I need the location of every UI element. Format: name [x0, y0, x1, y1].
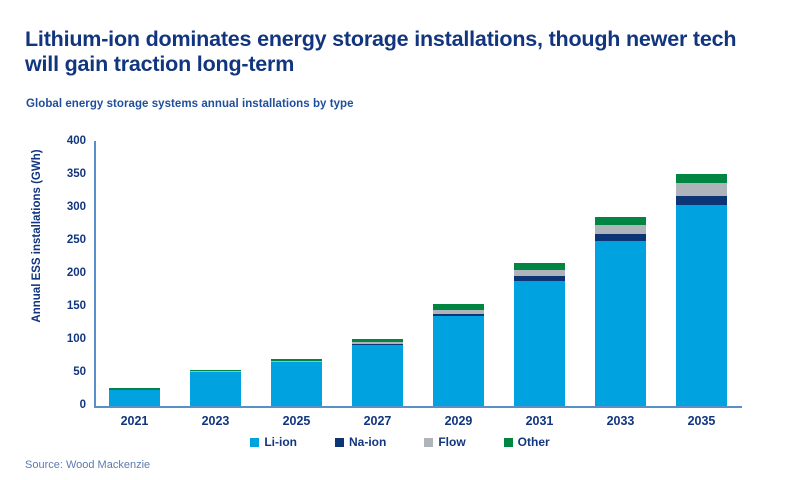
- bar-segment-li-ion[interactable]: [595, 241, 645, 406]
- bar-stack: [514, 263, 564, 406]
- bar-stack: [595, 217, 645, 406]
- bar-segment-na-ion[interactable]: [676, 196, 726, 205]
- y-tick-label: 350: [50, 169, 86, 180]
- y-tick-label: 100: [50, 334, 86, 345]
- legend-label: Flow: [438, 436, 465, 448]
- bar-stack: [271, 359, 321, 406]
- legend-swatch-icon: [504, 438, 513, 447]
- x-tick-label: 2031: [514, 414, 564, 428]
- bar-group[interactable]: 2035: [676, 0, 726, 480]
- bar-group[interactable]: 2033: [595, 0, 645, 480]
- x-tick-label: 2035: [676, 414, 726, 428]
- bars-layer: 20212023202520272029203120332035: [94, 0, 742, 480]
- y-tick-label: 300: [50, 202, 86, 213]
- bar-segment-flow[interactable]: [595, 225, 645, 234]
- legend-label: Other: [518, 436, 550, 448]
- legend-label: Na-ion: [349, 436, 386, 448]
- y-tick-label: 250: [50, 235, 86, 246]
- y-tick-label: 200: [50, 268, 86, 279]
- bar-stack: [109, 388, 159, 406]
- x-tick-label: 2033: [595, 414, 645, 428]
- bar-stack: [190, 370, 240, 406]
- bar-stack: [433, 304, 483, 406]
- bar-group[interactable]: 2031: [514, 0, 564, 480]
- y-tick-label: 150: [50, 301, 86, 312]
- bar-group[interactable]: 2027: [352, 0, 402, 480]
- legend-item-flow[interactable]: Flow: [424, 436, 465, 448]
- plot-area: 050100150200250300350400 Annual ESS inst…: [0, 0, 800, 480]
- x-tick-label: 2023: [190, 414, 240, 428]
- x-tick-label: 2027: [352, 414, 402, 428]
- bar-segment-li-ion[interactable]: [514, 281, 564, 406]
- bar-segment-li-ion[interactable]: [190, 372, 240, 406]
- bar-segment-li-ion[interactable]: [352, 345, 402, 406]
- bar-segment-other[interactable]: [595, 217, 645, 224]
- bar-stack: [352, 339, 402, 406]
- x-tick-label: 2025: [271, 414, 321, 428]
- bar-segment-li-ion[interactable]: [676, 205, 726, 406]
- source-note: Source: Wood Mackenzie: [25, 459, 150, 471]
- bar-group[interactable]: 2021: [109, 0, 159, 480]
- legend-label: Li-ion: [264, 436, 297, 448]
- x-tick-label: 2021: [109, 414, 159, 428]
- bar-segment-li-ion[interactable]: [433, 316, 483, 406]
- bar-segment-other[interactable]: [514, 263, 564, 270]
- bar-group[interactable]: 2029: [433, 0, 483, 480]
- bar-segment-li-ion[interactable]: [271, 362, 321, 406]
- bar-group[interactable]: 2025: [271, 0, 321, 480]
- legend-swatch-icon: [335, 438, 344, 447]
- y-tick-label: 0: [50, 400, 86, 411]
- y-axis-tick-labels: 050100150200250300350400: [46, 0, 86, 480]
- legend-item-na-ion[interactable]: Na-ion: [335, 436, 386, 448]
- bar-segment-na-ion[interactable]: [595, 234, 645, 241]
- bar-stack: [676, 174, 726, 406]
- bar-segment-flow[interactable]: [676, 183, 726, 196]
- bar-segment-li-ion[interactable]: [109, 390, 159, 407]
- legend-item-li-ion[interactable]: Li-ion: [250, 436, 297, 448]
- chart-legend: Li-ionNa-ionFlowOther: [0, 436, 800, 448]
- x-tick-label: 2029: [433, 414, 483, 428]
- legend-swatch-icon: [424, 438, 433, 447]
- bar-segment-other[interactable]: [676, 174, 726, 183]
- legend-swatch-icon: [250, 438, 259, 447]
- legend-item-other[interactable]: Other: [504, 436, 550, 448]
- y-tick-label: 400: [50, 136, 86, 147]
- y-axis-title: Annual ESS installations (GWh): [31, 116, 43, 356]
- bar-group[interactable]: 2023: [190, 0, 240, 480]
- y-tick-label: 50: [50, 367, 86, 378]
